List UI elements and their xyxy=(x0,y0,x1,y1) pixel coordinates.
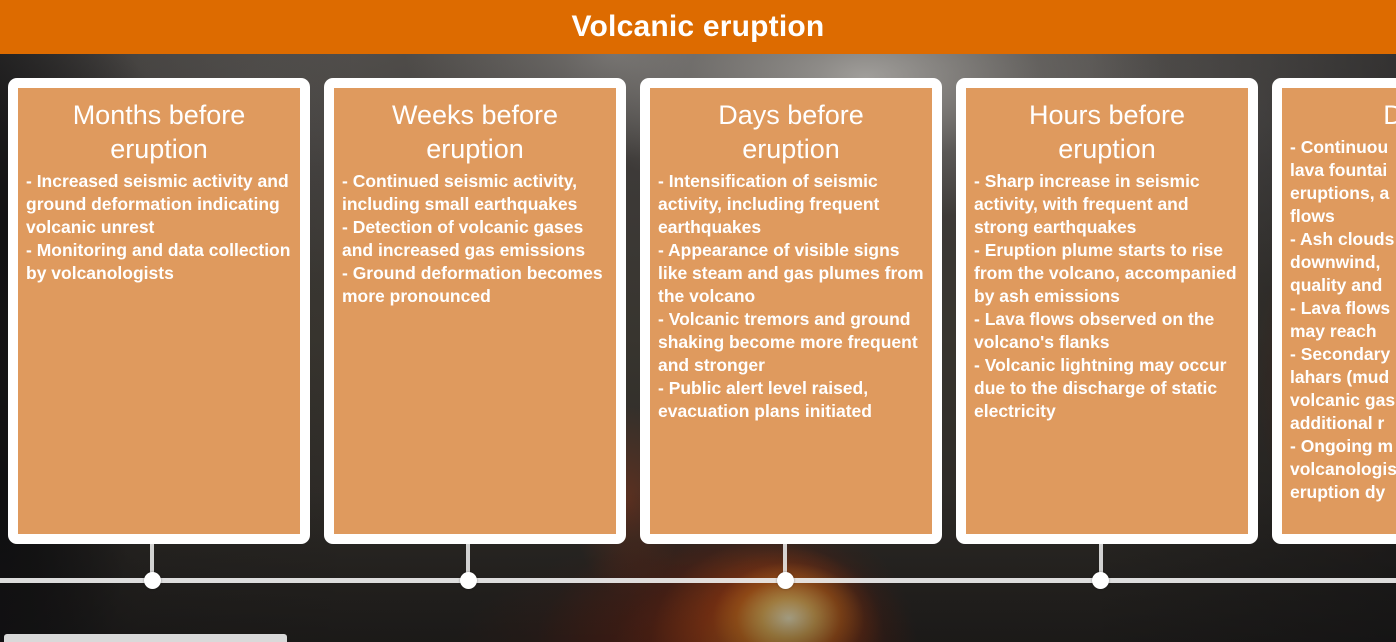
timeline-dot-3[interactable] xyxy=(777,572,794,589)
timeline-dot-1[interactable] xyxy=(144,572,161,589)
timeline-dot-2[interactable] xyxy=(460,572,477,589)
card-title: Days before eruption xyxy=(658,88,924,166)
timeline-card-during-eruption[interactable]: During - Continuou lava fountai eruption… xyxy=(1272,78,1396,544)
card-content: Days before eruption - Intensification o… xyxy=(650,88,932,534)
bottom-caption-strip xyxy=(4,634,287,642)
card-content: During - Continuou lava fountai eruption… xyxy=(1282,88,1396,534)
timeline-card-months-before-eruption[interactable]: Months before eruption - Increased seism… xyxy=(8,78,310,544)
card-body: - Sharp increase in seismic activity, wi… xyxy=(974,166,1240,423)
card-content: Months before eruption - Increased seism… xyxy=(18,88,300,534)
card-body: - Increased seismic activity and ground … xyxy=(26,166,292,285)
card-content: Weeks before eruption - Continued seismi… xyxy=(334,88,616,534)
card-title: Hours before eruption xyxy=(974,88,1240,166)
card-body: - Intensification of seismic activity, i… xyxy=(658,166,924,423)
timeline-dot-4[interactable] xyxy=(1092,572,1109,589)
card-body: - Continued seismic activity, including … xyxy=(342,166,608,308)
card-title: Weeks before eruption xyxy=(342,88,608,166)
card-content: Hours before eruption - Sharp increase i… xyxy=(966,88,1248,534)
page-title: Volcanic eruption xyxy=(572,10,825,44)
timeline-axis xyxy=(0,578,1396,583)
card-title: During xyxy=(1290,88,1396,132)
header-bar: Volcanic eruption xyxy=(0,0,1396,54)
timeline-card-weeks-before-eruption[interactable]: Weeks before eruption - Continued seismi… xyxy=(324,78,626,544)
timeline-card-days-before-eruption[interactable]: Days before eruption - Intensification o… xyxy=(640,78,942,544)
timeline-infographic: Volcanic eruption Months before eruption… xyxy=(0,0,1396,642)
card-body: - Continuou lava fountai eruptions, a fl… xyxy=(1290,132,1396,504)
card-title: Months before eruption xyxy=(26,88,292,166)
timeline-card-hours-before-eruption[interactable]: Hours before eruption - Sharp increase i… xyxy=(956,78,1258,544)
